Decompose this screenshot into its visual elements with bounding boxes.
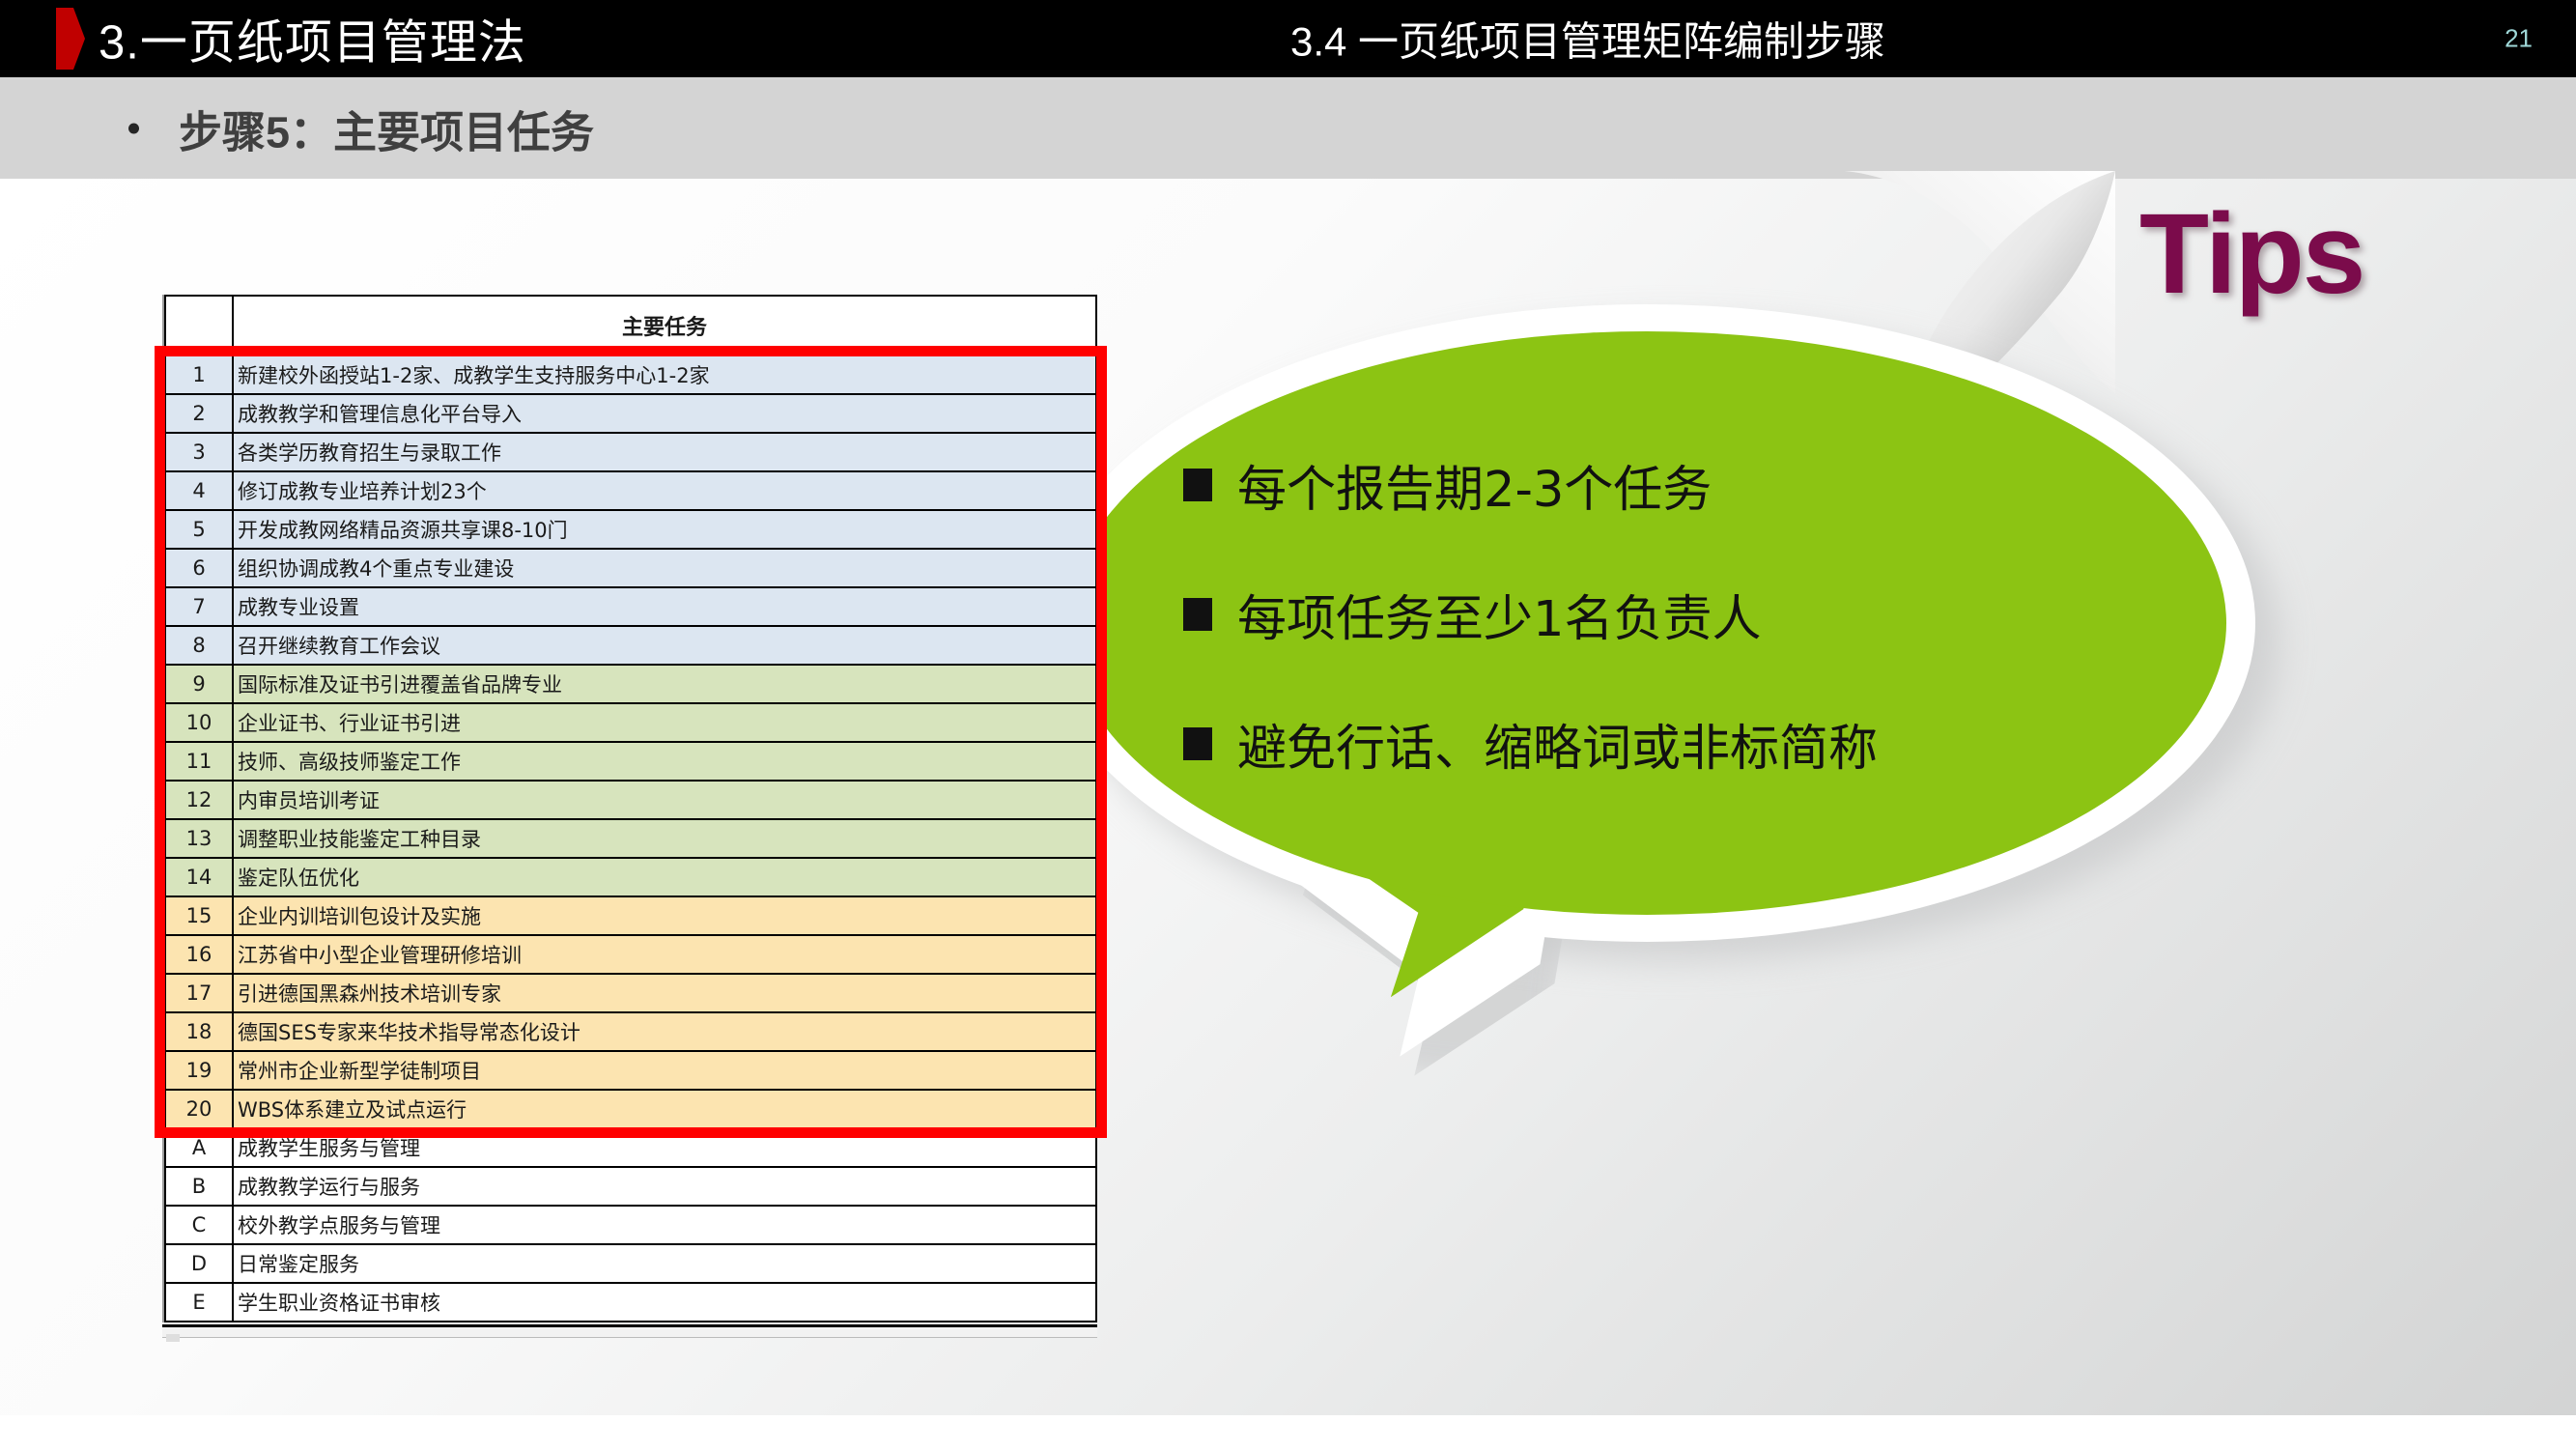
table-row: 10企业证书、行业证书引进 xyxy=(165,703,1096,742)
table-row: 4修订成教专业培养计划23个 xyxy=(165,471,1096,510)
row-task-cell: 成教专业设置 xyxy=(233,587,1096,626)
table-header-row: 主要任务 xyxy=(165,296,1096,355)
table-row: 2成教教学和管理信息化平台导入 xyxy=(165,394,1096,433)
sheet-tab xyxy=(166,1334,180,1342)
square-bullet-icon xyxy=(1183,727,1212,760)
row-index-cell: 9 xyxy=(165,665,233,703)
table-row: 13调整职业技能鉴定工种目录 xyxy=(165,819,1096,858)
tip-text: 每个报告期2-3个任务 xyxy=(1237,449,1712,521)
row-index-cell: 8 xyxy=(165,626,233,665)
row-task-cell: 修订成教专业培养计划23个 xyxy=(233,471,1096,510)
subtitle-bar: 步骤5：主要项目任务 xyxy=(0,77,2576,179)
row-task-cell: 常州市企业新型学徒制项目 xyxy=(233,1051,1096,1090)
tip-text: 避免行话、缩略词或非标简称 xyxy=(1237,708,1878,780)
tips-list: 每个报告期2-3个任务 每项任务至少1名负责人 避免行话、缩略词或非标简称 xyxy=(1183,449,2207,838)
table-row: 7成教专业设置 xyxy=(165,587,1096,626)
row-index-cell: 15 xyxy=(165,896,233,935)
row-task-cell: 德国SES专家来华技术指导常态化设计 xyxy=(233,1012,1096,1051)
table-row: 16江苏省中小型企业管理研修培训 xyxy=(165,935,1096,974)
table-row: 15企业内训培训包设计及实施 xyxy=(165,896,1096,935)
row-index-cell: A xyxy=(165,1128,233,1167)
row-index-cell: 5 xyxy=(165,510,233,549)
table-row: B成教教学运行与服务 xyxy=(165,1167,1096,1206)
table-row: C校外教学点服务与管理 xyxy=(165,1206,1096,1244)
table-row: 1新建校外函授站1-2家、成教学生支持服务中心1-2家 xyxy=(165,355,1096,394)
row-task-cell: WBS体系建立及试点运行 xyxy=(233,1090,1096,1128)
table-header-index xyxy=(165,296,233,355)
table-row: 19常州市企业新型学徒制项目 xyxy=(165,1051,1096,1090)
table-row: 6组织协调成教4个重点专业建设 xyxy=(165,549,1096,587)
row-task-cell: 调整职业技能鉴定工种目录 xyxy=(233,819,1096,858)
row-task-cell: 各类学历教育招生与录取工作 xyxy=(233,433,1096,471)
table-row: D日常鉴定服务 xyxy=(165,1244,1096,1283)
slide-body: Tips 每个报告期2-3个任务 每项任务至少1名负责人 避免行话、缩略词或非标… xyxy=(0,179,2576,1450)
table-row: 14鉴定队伍优化 xyxy=(165,858,1096,896)
list-item: 每项任务至少1名负责人 xyxy=(1183,579,2207,650)
list-item: 每个报告期2-3个任务 xyxy=(1183,449,2207,521)
square-bullet-icon xyxy=(1183,598,1212,631)
row-index-cell: E xyxy=(165,1283,233,1322)
row-index-cell: 14 xyxy=(165,858,233,896)
row-task-cell: 鉴定队伍优化 xyxy=(233,858,1096,896)
table-row: 9国际标准及证书引进覆盖省品牌专业 xyxy=(165,665,1096,703)
header-title: 3.一页纸项目管理法 xyxy=(99,5,526,73)
slide-footer-strip xyxy=(0,1415,2576,1450)
row-index-cell: 16 xyxy=(165,935,233,974)
row-index-cell: 19 xyxy=(165,1051,233,1090)
table-row: A成教学生服务与管理 xyxy=(165,1128,1096,1167)
row-task-cell: 学生职业资格证书审核 xyxy=(233,1283,1096,1322)
table-row: 17引进德国黑森州技术培训专家 xyxy=(165,974,1096,1012)
row-task-cell: 企业内训培训包设计及实施 xyxy=(233,896,1096,935)
task-table-body: 主要任务 1新建校外函授站1-2家、成教学生支持服务中心1-2家2成教教学和管理… xyxy=(165,296,1096,1322)
page-number: 21 xyxy=(2505,24,2533,54)
row-task-cell: 校外教学点服务与管理 xyxy=(233,1206,1096,1244)
row-task-cell: 召开继续教育工作会议 xyxy=(233,626,1096,665)
row-index-cell: 1 xyxy=(165,355,233,394)
square-bullet-icon xyxy=(1183,469,1212,501)
row-index-cell: 13 xyxy=(165,819,233,858)
table-row: E学生职业资格证书审核 xyxy=(165,1283,1096,1322)
row-index-cell: 3 xyxy=(165,433,233,471)
list-item: 避免行话、缩略词或非标简称 xyxy=(1183,708,2207,780)
row-index-cell: 18 xyxy=(165,1012,233,1051)
row-index-cell: 12 xyxy=(165,781,233,819)
row-index-cell: 10 xyxy=(165,703,233,742)
row-index-cell: D xyxy=(165,1244,233,1283)
table-row: 18德国SES专家来华技术指导常态化设计 xyxy=(165,1012,1096,1051)
table-row: 3各类学历教育招生与录取工作 xyxy=(165,433,1096,471)
table-row: 20WBS体系建立及试点运行 xyxy=(165,1090,1096,1128)
row-task-cell: 成教教学运行与服务 xyxy=(233,1167,1096,1206)
row-task-cell: 成教教学和管理信息化平台导入 xyxy=(233,394,1096,433)
row-index-cell: C xyxy=(165,1206,233,1244)
row-index-cell: 6 xyxy=(165,549,233,587)
row-index-cell: 11 xyxy=(165,742,233,781)
row-task-cell: 组织协调成教4个重点专业建设 xyxy=(233,549,1096,587)
table-row: 12内审员培训考证 xyxy=(165,781,1096,819)
row-task-cell: 企业证书、行业证书引进 xyxy=(233,703,1096,742)
step-label: 步骤5：主要项目任务 xyxy=(179,97,594,159)
slide-header: 3.一页纸项目管理法 3.4 一页纸项目管理矩阵编制步骤 21 xyxy=(0,0,2576,77)
row-index-cell: 4 xyxy=(165,471,233,510)
row-index-cell: 7 xyxy=(165,587,233,626)
row-index-cell: 20 xyxy=(165,1090,233,1128)
tips-title: Tips xyxy=(2139,188,2364,320)
row-index-cell: B xyxy=(165,1167,233,1206)
task-table: 主要任务 1新建校外函授站1-2家、成教学生支持服务中心1-2家2成教教学和管理… xyxy=(164,295,1097,1322)
row-task-cell: 日常鉴定服务 xyxy=(233,1244,1096,1283)
table-header-task: 主要任务 xyxy=(233,296,1096,355)
red-arrow-icon xyxy=(56,8,85,70)
row-task-cell: 成教学生服务与管理 xyxy=(233,1128,1096,1167)
table-row: 8召开继续教育工作会议 xyxy=(165,626,1096,665)
header-subtitle: 3.4 一页纸项目管理矩阵编制步骤 xyxy=(1290,10,1885,69)
tip-text: 每项任务至少1名负责人 xyxy=(1237,579,1761,650)
row-index-cell: 17 xyxy=(165,974,233,1012)
row-task-cell: 江苏省中小型企业管理研修培训 xyxy=(233,935,1096,974)
sheet-edge xyxy=(162,1324,1097,1338)
bullet-icon xyxy=(128,123,139,133)
row-task-cell: 技师、高级技师鉴定工作 xyxy=(233,742,1096,781)
row-index-cell: 2 xyxy=(165,394,233,433)
row-task-cell: 内审员培训考证 xyxy=(233,781,1096,819)
row-task-cell: 开发成教网络精品资源共享课8-10门 xyxy=(233,510,1096,549)
table-row: 5开发成教网络精品资源共享课8-10门 xyxy=(165,510,1096,549)
table-row: 11技师、高级技师鉴定工作 xyxy=(165,742,1096,781)
task-table-wrapper: 主要任务 1新建校外函授站1-2家、成教学生支持服务中心1-2家2成教教学和管理… xyxy=(164,295,1097,1322)
row-task-cell: 引进德国黑森州技术培训专家 xyxy=(233,974,1096,1012)
row-task-cell: 新建校外函授站1-2家、成教学生支持服务中心1-2家 xyxy=(233,355,1096,394)
row-task-cell: 国际标准及证书引进覆盖省品牌专业 xyxy=(233,665,1096,703)
